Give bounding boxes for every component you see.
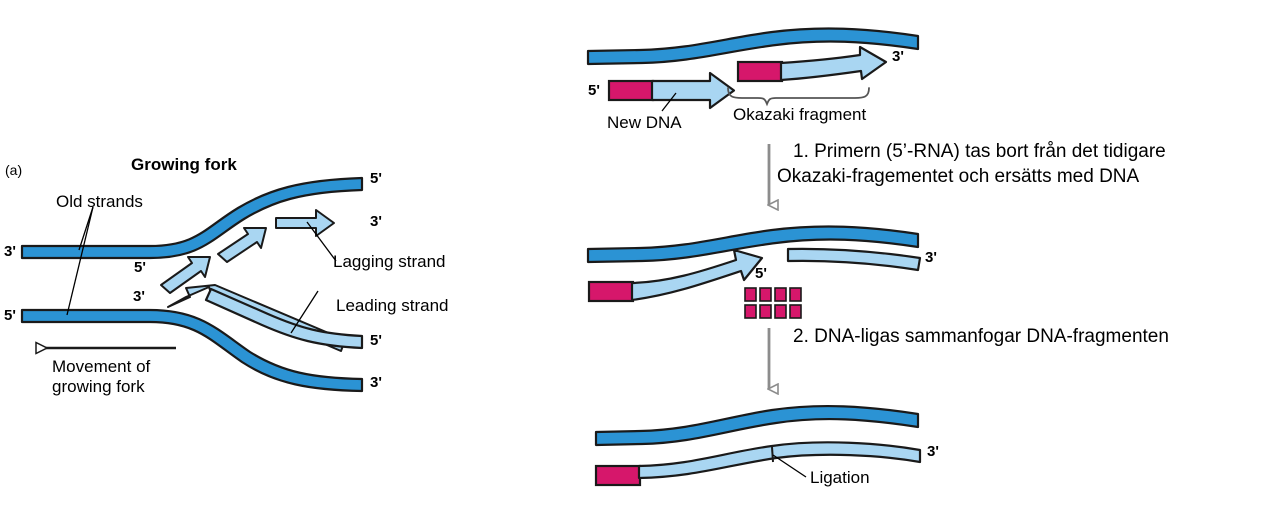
stage-middle-three-prime: 3'	[925, 249, 937, 267]
nucleotide-block	[790, 288, 801, 301]
fork-movement-label-line1: Movement of	[52, 357, 150, 377]
panel-b-stage-middle	[588, 227, 920, 318]
rna-primer-bottom-left	[596, 466, 640, 485]
panel-a-title: Growing fork	[131, 155, 237, 175]
fork-movement-label-line2: growing fork	[52, 377, 145, 397]
figure-graphics	[0, 0, 1270, 522]
rna-primer-okazaki	[738, 62, 782, 81]
panel-a-end-parent-top-right: 5'	[370, 170, 382, 188]
nucleotide-blocks	[745, 288, 801, 318]
nucleotide-block	[760, 305, 771, 318]
leading-strand-label: Leading strand	[336, 296, 448, 316]
okazaki-dna-arrow	[781, 47, 886, 80]
template-strand-bottom	[596, 406, 918, 445]
panel-a-letter: (a)	[5, 162, 22, 179]
panel-a-end-lagging-new-left: 5'	[134, 259, 146, 277]
nucleotide-block	[790, 305, 801, 318]
panel-a-end-leading-new-left: 3'	[133, 288, 145, 306]
annotation-step-2-line1: 2. DNA-ligas sammanfogar DNA-fragmenten	[793, 326, 1169, 348]
stage-top-five-prime: 5'	[588, 82, 600, 100]
rna-primer-middle-left	[589, 282, 633, 301]
annotation-step-1-line1: 1. Primern (5’-RNA) tas bort från det ti…	[793, 141, 1166, 163]
stage-top-three-prime: 3'	[892, 48, 904, 66]
panel-a-end-template-bottom-left: 5'	[4, 307, 16, 325]
ligation-nick-tick	[772, 447, 773, 462]
downstream-fragment-middle	[788, 249, 920, 270]
nucleotide-block	[775, 288, 786, 301]
ligation-leader	[773, 455, 806, 477]
stage-middle-five-prime: 5'	[755, 265, 767, 283]
ligated-new-strand	[639, 442, 920, 478]
nucleotide-block	[745, 305, 756, 318]
panel-b-stage-top	[588, 29, 918, 111]
panel-a-end-lagging-new-right: 3'	[370, 213, 382, 231]
lagging-strand-label: Lagging strand	[333, 252, 445, 272]
dna-replication-figure: (a) Growing fork Old strands Lagging str…	[0, 0, 1270, 522]
okazaki-fragment-label: Okazaki fragment	[733, 105, 866, 125]
ligation-label: Ligation	[810, 468, 870, 488]
nucleotide-block	[745, 288, 756, 301]
nucleotide-block	[775, 305, 786, 318]
panel-a-end-template-top-left: 3'	[4, 243, 16, 261]
new-dna-arrow-top-left	[652, 73, 734, 108]
annotation-step-1-line2: Okazaki-fragementet och ersätts med DNA	[777, 166, 1139, 188]
new-dna-label: New DNA	[607, 113, 682, 133]
panel-a-end-leading-new-right: 5'	[370, 332, 382, 350]
okazaki-arrow-3	[276, 210, 334, 236]
rna-primer-top-left	[609, 81, 653, 100]
old-strands-leaders	[67, 207, 93, 315]
old-strands-label: Old strands	[56, 192, 143, 212]
panel-a-end-parent-bottom-right: 3'	[370, 374, 382, 392]
stage-bottom-three-prime: 3'	[927, 443, 939, 461]
panel-b-stage-bottom	[596, 406, 920, 485]
nucleotide-block	[760, 288, 771, 301]
okazaki-bracket	[728, 88, 869, 104]
